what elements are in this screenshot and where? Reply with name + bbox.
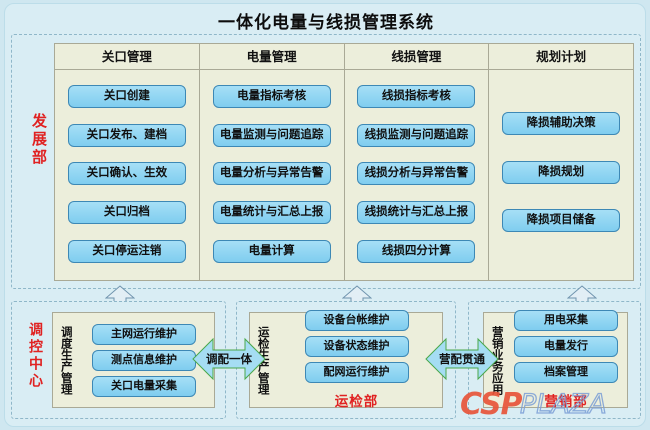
function-item[interactable]: 线损指标考核 (357, 85, 475, 108)
column-body: 电量指标考核 电量监测与问题追踪 电量分析与异常告警 电量统计与汇总上报 电量计… (200, 70, 344, 280)
function-item[interactable]: 电量统计与汇总上报 (213, 201, 331, 224)
inner-box: 运检生产管理 设备台帐维护 设备状态维护 配网运行维护 运检部 (249, 312, 443, 408)
function-item[interactable]: 电量分析与异常告警 (213, 162, 331, 185)
column-body: 关口创建 关口发布、建档 关口确认、生效 关口归档 关口停运注销 (55, 70, 199, 280)
link-arrow-ops-market: 营配贯通 (424, 332, 500, 386)
page-title: 一体化电量与线损管理系统 (5, 8, 647, 33)
dept-label-dispatch-center: 调控中心 (19, 322, 43, 390)
link-arrow-label: 营配贯通 (424, 332, 500, 386)
function-item[interactable]: 档案管理 (514, 362, 618, 383)
function-item[interactable]: 关口停运注销 (68, 240, 186, 263)
column-header: 电量管理 (200, 44, 344, 70)
function-item[interactable]: 降损辅助决策 (502, 112, 620, 135)
function-item[interactable]: 设备台帐维护 (305, 310, 409, 331)
link-arrow-dispatch-ops: 调配一体 (191, 332, 267, 386)
function-item[interactable]: 电量指标考核 (213, 85, 331, 108)
function-item[interactable]: 关口确认、生效 (68, 162, 186, 185)
function-item[interactable]: 关口发布、建档 (68, 124, 186, 147)
function-item[interactable]: 关口归档 (68, 201, 186, 224)
column-line-loss-management: 线损管理 线损指标考核 线损监测与问题追踪 线损分析与异常告警 线损统计与汇总上… (345, 44, 490, 280)
function-grid: 关口管理 关口创建 关口发布、建档 关口确认、生效 关口归档 关口停运注销 电量… (54, 43, 634, 281)
function-item[interactable]: 设备状态维护 (305, 336, 409, 357)
column-gateway-management: 关口管理 关口创建 关口发布、建档 关口确认、生效 关口归档 关口停运注销 (55, 44, 200, 280)
column-header: 规划计划 (489, 44, 633, 70)
function-item[interactable]: 主网运行维护 (92, 324, 196, 345)
column-planning: 规划计划 降损辅助决策 降损规划 降损项目储备 (489, 44, 633, 280)
function-item[interactable]: 线损分析与异常告警 (357, 162, 475, 185)
column-energy-management: 电量管理 电量指标考核 电量监测与问题追踪 电量分析与异常告警 电量统计与汇总上… (200, 44, 345, 280)
function-item[interactable]: 降损项目储备 (502, 209, 620, 232)
inner-box: 营销业务应用 用电采集 电量发行 档案管理 营销部 (483, 312, 628, 408)
bottom-panel-operations: 运检生产管理 设备台帐维护 设备状态维护 配网运行维护 运检部 (236, 301, 456, 419)
function-item[interactable]: 关口创建 (68, 85, 186, 108)
item-stack: 设备台帐维护 设备状态维护 配网运行维护 运检部 (271, 313, 442, 407)
function-item[interactable]: 用电采集 (514, 310, 618, 331)
dept-label-operations: 运检部 (335, 390, 379, 410)
function-item[interactable]: 线损监测与问题追踪 (357, 124, 475, 147)
function-item[interactable]: 关口电量采集 (92, 376, 196, 397)
column-body: 线损指标考核 线损监测与问题追踪 线损分析与异常告警 线损统计与汇总上报 线损四… (345, 70, 489, 280)
link-arrow-label: 调配一体 (191, 332, 267, 386)
function-item[interactable]: 线损统计与汇总上报 (357, 201, 475, 224)
function-item[interactable]: 电量发行 (514, 336, 618, 357)
column-body: 降损辅助决策 降损规划 降损项目储备 (489, 70, 633, 280)
column-header: 线损管理 (345, 44, 489, 70)
diagram-root: 一体化电量与线损管理系统 发展部 关口管理 关口创建 关口发布、建档 关口确认、… (4, 3, 646, 427)
column-header: 关口管理 (55, 44, 199, 70)
dept-label-marketing: 营销部 (544, 390, 588, 410)
function-item[interactable]: 降损规划 (502, 161, 620, 184)
dept-label-development: 发展部 (20, 113, 46, 167)
top-section-panel: 发展部 关口管理 关口创建 关口发布、建档 关口确认、生效 关口归档 关口停运注… (11, 34, 641, 289)
function-item[interactable]: 线损四分计算 (357, 240, 475, 263)
item-stack: 用电采集 电量发行 档案管理 营销部 (505, 313, 627, 407)
side-label-dispatch-production: 调度生产管理 (56, 313, 74, 407)
function-item[interactable]: 测点信息维护 (92, 350, 196, 371)
function-item[interactable]: 电量计算 (213, 240, 331, 263)
function-item[interactable]: 电量监测与问题追踪 (213, 124, 331, 147)
function-item[interactable]: 配网运行维护 (305, 362, 409, 383)
